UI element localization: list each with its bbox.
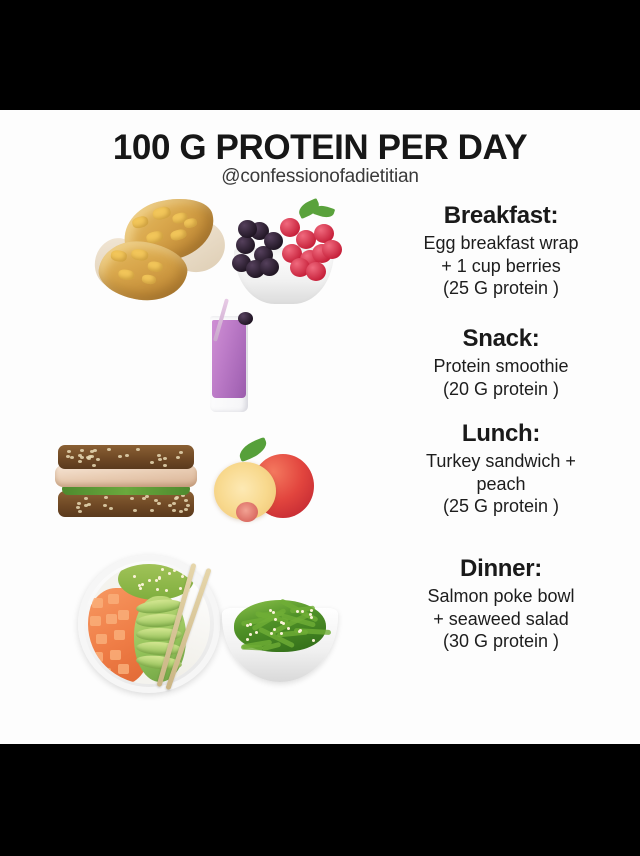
meal-items-dinner: Salmon poke bowl+ seaweed salad [372, 585, 630, 630]
sesame-bit [310, 609, 313, 612]
meal-breakfast: Breakfast: Egg breakfast wrap+ 1 cup ber… [372, 202, 630, 300]
sesame-bit [168, 572, 171, 575]
salmon-cube-bit [90, 616, 101, 626]
sesame-bit [158, 576, 161, 579]
sesame-bit [310, 616, 313, 619]
seed-bit [179, 510, 183, 513]
seed-bit [109, 507, 113, 510]
sesame-bit [133, 575, 136, 578]
meal-items-breakfast: Egg breakfast wrap+ 1 cup berries [372, 232, 630, 277]
protein-smoothie-image [198, 298, 260, 416]
turkey-sandwich-image [52, 435, 202, 527]
letterbox-top [0, 0, 640, 110]
seed-bit [70, 456, 74, 459]
seed-bit [80, 449, 84, 452]
letterbox-bottom [0, 744, 640, 856]
salmon-cube-bit [92, 598, 103, 608]
meal-heading-lunch: Lunch: [372, 420, 630, 448]
egg-bit-bit [152, 205, 172, 221]
meal-lunch: Lunch: Turkey sandwich +peach (25 G prot… [372, 420, 630, 518]
seed-bit [179, 451, 183, 454]
meal-protein-breakfast: (25 G protein ) [372, 277, 630, 300]
page-title: 100 G PROTEIN PER DAY [0, 128, 640, 168]
sesame-bit [272, 611, 275, 614]
author-handle: @confessionofadietitian [0, 166, 640, 188]
seed-bit [103, 504, 107, 507]
peach-pit [236, 502, 258, 522]
infographic-card: 100 G PROTEIN PER DAY @confessionofadiet… [0, 110, 640, 744]
egg-bit-bit [131, 215, 149, 230]
seed-bit [172, 509, 176, 512]
salmon-cube-bit [106, 614, 117, 624]
meal-heading-breakfast: Breakfast: [372, 202, 630, 230]
berry-bit [322, 240, 342, 259]
meal-protein-lunch: (25 G protein ) [372, 495, 630, 518]
seed-bit [78, 510, 82, 513]
egg-bit-bit [147, 261, 163, 273]
seed-bit [84, 497, 88, 500]
meal-protein-dinner: (30 G protein ) [372, 630, 630, 653]
seed-bit [186, 504, 190, 507]
egg-bit-bit [141, 274, 156, 285]
sesame-bit [255, 631, 258, 634]
egg-breakfast-wrap-image [95, 198, 230, 306]
salmon-cube-bit [100, 668, 111, 678]
sesame-bit [165, 589, 168, 592]
sesame-bit [312, 639, 315, 642]
seed-bit [93, 449, 97, 452]
meal-items-snack: Protein smoothie [372, 355, 630, 378]
seed-bit [150, 509, 154, 512]
seed-bit [67, 450, 71, 453]
seed-bit [77, 502, 81, 505]
seed-bit [163, 464, 167, 467]
seed-bit [142, 497, 146, 500]
mixed-berry-bowl-image [228, 202, 340, 306]
sesame-bit [287, 627, 290, 630]
meal-heading-dinner: Dinner: [372, 555, 630, 583]
salmon-cube-bit [108, 594, 119, 604]
sesame-bit [148, 579, 151, 582]
seed-bit [176, 456, 180, 459]
salmon-poke-bowl-image [78, 555, 228, 697]
halved-peach [214, 462, 276, 520]
seed-bit [163, 457, 167, 460]
berry-bit [306, 262, 326, 281]
avo-slice-bit [136, 641, 183, 656]
seed-bit [150, 461, 154, 464]
seed-bit [184, 499, 188, 502]
sesame-bit [301, 610, 304, 613]
seed-bit [87, 503, 91, 506]
seaweed-greens [234, 600, 326, 652]
sesame-bit [246, 624, 249, 627]
berry-bit [236, 236, 255, 254]
egg-bit-bit [183, 217, 198, 229]
egg-bit-bit [110, 249, 127, 262]
egg-bit-bit [118, 269, 135, 281]
meal-heading-snack: Snack: [372, 325, 630, 353]
seed-bit [158, 458, 162, 461]
seed-bit [133, 509, 137, 512]
seaweed-salad-image [222, 594, 340, 686]
seed-bit [136, 448, 140, 451]
sesame-bit [161, 568, 164, 571]
seed-bit [172, 502, 176, 505]
sesame-bit [296, 610, 299, 613]
berry-bit [238, 220, 257, 238]
sesame-bit [249, 633, 252, 636]
peach-image [212, 440, 320, 528]
seed-bit [145, 495, 149, 498]
sesame-bit [179, 587, 182, 590]
peach-leaf [236, 437, 269, 462]
seed-bit [92, 464, 96, 467]
sesame-bit [141, 583, 144, 586]
seed-bit [78, 454, 82, 457]
meal-items-lunch: Turkey sandwich +peach [372, 450, 630, 495]
salmon-cube-bit [92, 652, 103, 662]
salmon-cube-bit [96, 634, 107, 644]
sesame-bit [173, 569, 176, 572]
sesame-bit [299, 629, 302, 632]
salmon-cube-bit [114, 630, 125, 640]
seed-bit [184, 508, 188, 511]
seed-bit [90, 450, 94, 453]
salmon-cube-bit [118, 664, 129, 674]
sesame-bit [156, 588, 159, 591]
berry-bit [264, 232, 283, 250]
seed-bit [104, 496, 108, 499]
meal-snack: Snack: Protein smoothie (20 G protein ) [372, 325, 630, 400]
seed-bit [76, 506, 80, 509]
mint-bit [313, 203, 335, 220]
seed-bit [78, 460, 82, 463]
seed-bit [125, 454, 129, 457]
egg-bit-bit [169, 228, 187, 242]
seed-bit [175, 496, 179, 499]
seed-bit [86, 456, 90, 459]
infographic-canvas: 100 G PROTEIN PER DAY @confessionofadiet… [0, 0, 640, 856]
sesame-bit [181, 575, 184, 578]
egg-bit-bit [131, 248, 149, 261]
bread-slice-top [58, 445, 194, 469]
meal-dinner: Dinner: Salmon poke bowl+ seaweed salad … [372, 555, 630, 653]
salmon-cube-bit [110, 650, 121, 660]
seed-bit [96, 458, 100, 461]
blackberry-garnish [238, 312, 253, 325]
seed-bit [157, 454, 161, 457]
seed-bit [157, 502, 161, 505]
berry-bit [260, 258, 279, 276]
meal-protein-snack: (20 G protein ) [372, 378, 630, 401]
sesame-bit [246, 638, 249, 641]
sesame-bit [139, 587, 142, 590]
salmon-cube-bit [118, 610, 129, 620]
seed-bit [107, 448, 111, 451]
seed-bit [130, 497, 134, 500]
seed-bit [118, 455, 122, 458]
